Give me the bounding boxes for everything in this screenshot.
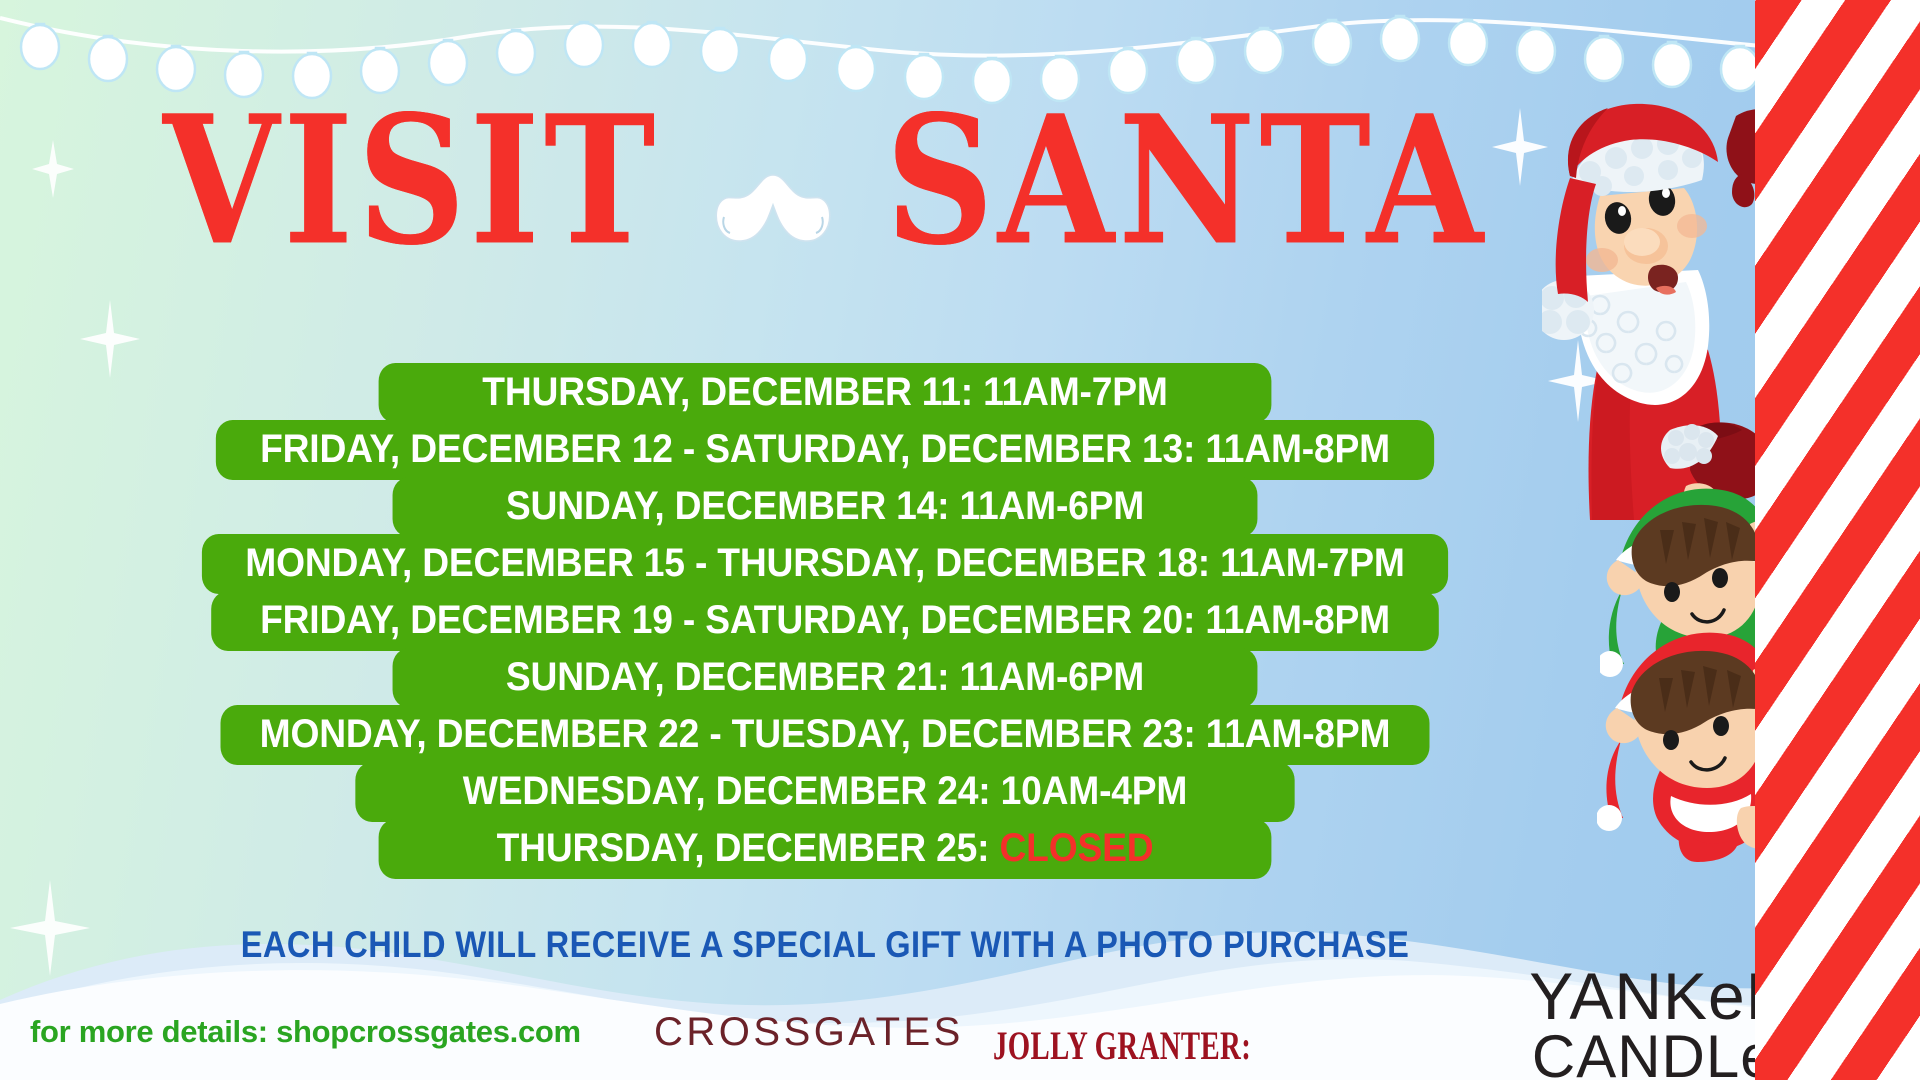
candy-cane-pole <box>1755 0 1920 1080</box>
schedule-row-text: THURSDAY, DECEMBER 11: 11AM-7PM <box>482 370 1167 414</box>
details-link[interactable]: for more details: shopcrossgates.com <box>30 1014 581 1050</box>
schedule-row: THURSDAY, DECEMBER 25: CLOSED <box>379 819 1272 879</box>
schedule-list: THURSDAY, DECEMBER 11: 11AM-7PM FRIDAY, … <box>0 366 1650 879</box>
schedule-row-text: WEDNESDAY, DECEMBER 24: 10AM-4PM <box>463 769 1187 813</box>
schedule-row: SUNDAY, DECEMBER 21: 11AM-6PM <box>393 648 1258 708</box>
sparkle-icon <box>10 880 90 976</box>
schedule-row: MONDAY, DECEMBER 15 - THURSDAY, DECEMBER… <box>202 534 1448 594</box>
schedule-row-text: SUNDAY, DECEMBER 14: 11AM-6PM <box>506 484 1144 528</box>
crossgates-logo: CROSSGATES <box>654 1010 964 1055</box>
schedule-row-text: MONDAY, DECEMBER 15 - THURSDAY, DECEMBER… <box>245 541 1404 585</box>
yankee-logo-line2-text: CANDLe <box>1532 1023 1775 1080</box>
schedule-row: MONDAY, DECEMBER 22 - TUESDAY, DECEMBER … <box>221 705 1430 765</box>
schedule-row-text: FRIDAY, DECEMBER 12 - SATURDAY, DECEMBER… <box>260 427 1390 471</box>
schedule-row: FRIDAY, DECEMBER 12 - SATURDAY, DECEMBER… <box>216 420 1434 480</box>
mustache-icon <box>688 165 858 245</box>
schedule-row: WEDNESDAY, DECEMBER 24: 10AM-4PM <box>355 762 1294 822</box>
schedule-row-text: THURSDAY, DECEMBER 25: <box>497 826 1000 870</box>
page-title: VISIT SANTA <box>0 112 1650 250</box>
schedule-row-text: FRIDAY, DECEMBER 19 - SATURDAY, DECEMBER… <box>260 598 1390 642</box>
title-word-visit: VISIT <box>163 100 660 263</box>
jolly-granter-label: JOLLY GRANTER: <box>993 1022 1251 1069</box>
schedule-row: THURSDAY, DECEMBER 11: 11AM-7PM <box>379 363 1272 423</box>
schedule-row-text: MONDAY, DECEMBER 22 - TUESDAY, DECEMBER … <box>260 712 1391 756</box>
schedule-row-text: SUNDAY, DECEMBER 21: 11AM-6PM <box>506 655 1144 699</box>
schedule-row: FRIDAY, DECEMBER 19 - SATURDAY, DECEMBER… <box>211 591 1439 651</box>
title-word-santa: SANTA <box>886 100 1488 263</box>
poster-canvas: VISIT SANTA THURSDAY, DECEMBER 11: 11AM-… <box>0 0 1920 1080</box>
schedule-row: SUNDAY, DECEMBER 14: 11AM-6PM <box>393 477 1258 537</box>
closed-badge: CLOSED <box>999 826 1153 870</box>
gift-line: EACH CHILD WILL RECEIVE A SPECIAL GIFT W… <box>99 924 1551 966</box>
